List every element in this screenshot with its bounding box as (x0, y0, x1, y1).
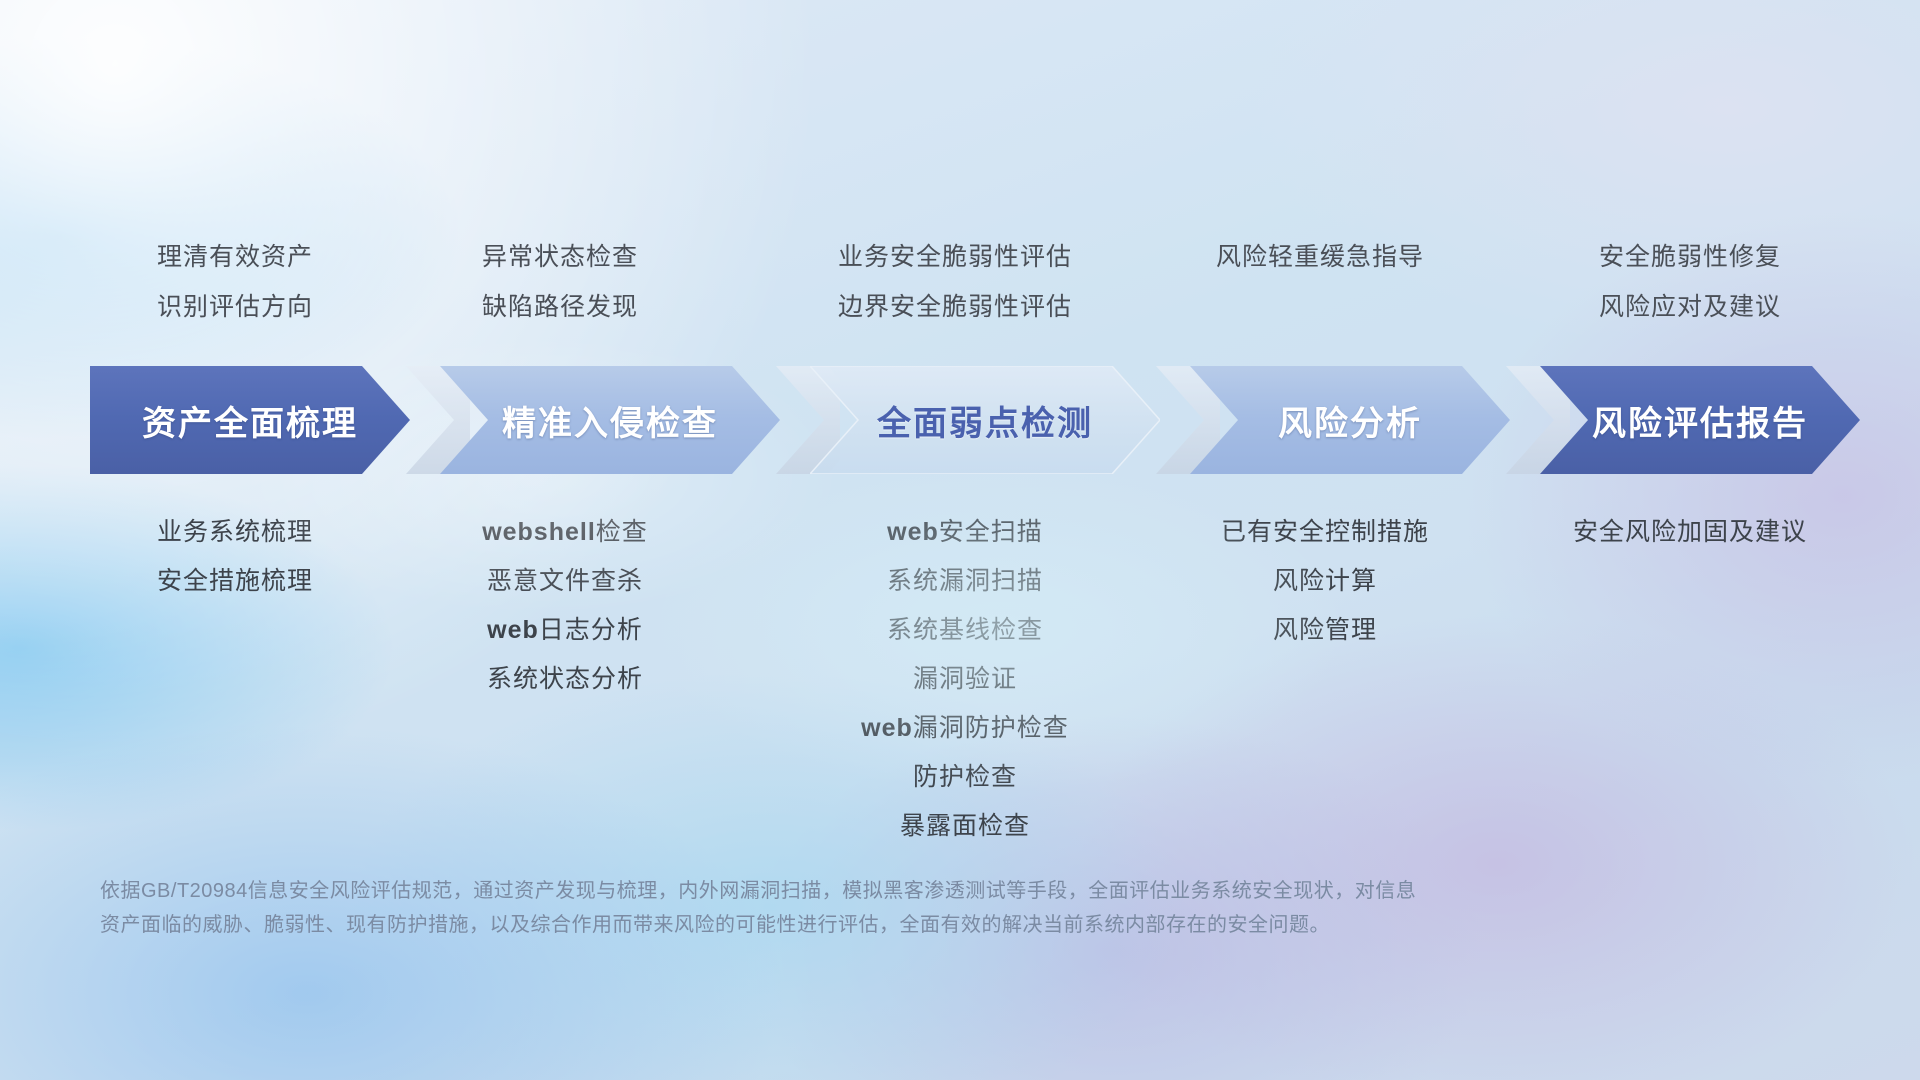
chevron-label: 风险评估报告 (1592, 396, 1808, 445)
bottom-labels-stage-1: 业务系统梳理 安全措施梳理 (75, 508, 395, 606)
bottom-label: 暴露面检查 (800, 802, 1130, 851)
diagram-canvas: 理清有效资产 识别评估方向 异常状态检查 缺陷路径发现 业务安全脆弱性评估 边界… (0, 0, 1920, 1080)
bottom-label: 安全风险加固及建议 (1500, 508, 1880, 557)
bottom-label-prefix: web (861, 714, 913, 742)
chevron-stage-4[interactable]: 风险分析 (1190, 366, 1510, 474)
bottom-label-text: 防护检查 (913, 763, 1017, 791)
bottom-label: web漏洞防护检查 (800, 704, 1130, 753)
bottom-label-text: 安全扫描 (939, 518, 1043, 546)
chevron-stage-1[interactable]: 资产全面梳理 (90, 366, 410, 474)
bottom-label: 系统基线检查 (800, 606, 1130, 655)
footer-line-2: 资产面临的威胁、脆弱性、现有防护措施，以及综合作用而带来风险的可能性进行评估，全… (100, 908, 1600, 942)
bottom-label-text: 系统基线检查 (887, 616, 1043, 644)
bottom-label-prefix: web (887, 518, 939, 546)
bottom-label: 防护检查 (800, 753, 1130, 802)
chevron-stage-3[interactable]: 全面弱点检测 (810, 366, 1160, 474)
bottom-label: 安全措施梳理 (75, 557, 395, 606)
footer-description: 依据GB/T20984信息安全风险评估规范，通过资产发现与梳理，内外网漏洞扫描，… (100, 874, 1600, 942)
bottom-label: web日志分析 (405, 606, 725, 655)
bottom-label: web安全扫描 (800, 508, 1130, 557)
chevron-stage-2[interactable]: 精准入侵检查 (440, 366, 780, 474)
bottom-label: webshell检查 (405, 508, 725, 557)
bottom-label: 风险计算 (1155, 557, 1495, 606)
bottom-labels-stage-2: webshell检查 恶意文件查杀 web日志分析 系统状态分析 (405, 508, 725, 704)
bottom-label-prefix: web (487, 616, 539, 644)
bottom-label-text: 系统状态分析 (487, 665, 643, 693)
chevron-label: 精准入侵检查 (502, 396, 718, 445)
process-chevron-banner: 资产全面梳理 (0, 366, 1920, 474)
bottom-label-text: 暴露面检查 (900, 812, 1030, 840)
chevron-label: 风险分析 (1278, 396, 1422, 445)
bottom-label-text: 日志分析 (539, 616, 643, 644)
bottom-label: 漏洞验证 (800, 655, 1130, 704)
bottom-labels-stage-5: 安全风险加固及建议 (1500, 508, 1880, 557)
bottom-label: 恶意文件查杀 (405, 557, 725, 606)
bottom-label-text: 系统漏洞扫描 (887, 567, 1043, 595)
bottom-label-text: 恶意文件查杀 (487, 567, 643, 595)
chevron-label: 全面弱点检测 (877, 396, 1093, 445)
bottom-labels-stage-4: 已有安全控制措施 风险计算 风险管理 (1155, 508, 1495, 655)
bottom-label: 系统状态分析 (405, 655, 725, 704)
bottom-label: 已有安全控制措施 (1155, 508, 1495, 557)
chevron-stage-5[interactable]: 风险评估报告 (1540, 366, 1860, 474)
bottom-label: 系统漏洞扫描 (800, 557, 1130, 606)
bottom-label-text: 漏洞防护检查 (913, 714, 1069, 742)
bottom-label: 风险管理 (1155, 606, 1495, 655)
bottom-labels-stage-3: web安全扫描 系统漏洞扫描 系统基线检查 漏洞验证 web漏洞防护检查 防护检… (800, 508, 1130, 851)
chevron-label: 资产全面梳理 (142, 396, 358, 445)
bottom-label: 业务系统梳理 (75, 508, 395, 557)
bottom-label-text: 检查 (596, 518, 648, 546)
footer-line-1: 依据GB/T20984信息安全风险评估规范，通过资产发现与梳理，内外网漏洞扫描，… (100, 874, 1600, 908)
bottom-label-text: 漏洞验证 (913, 665, 1017, 693)
bottom-label-prefix: webshell (482, 518, 596, 546)
